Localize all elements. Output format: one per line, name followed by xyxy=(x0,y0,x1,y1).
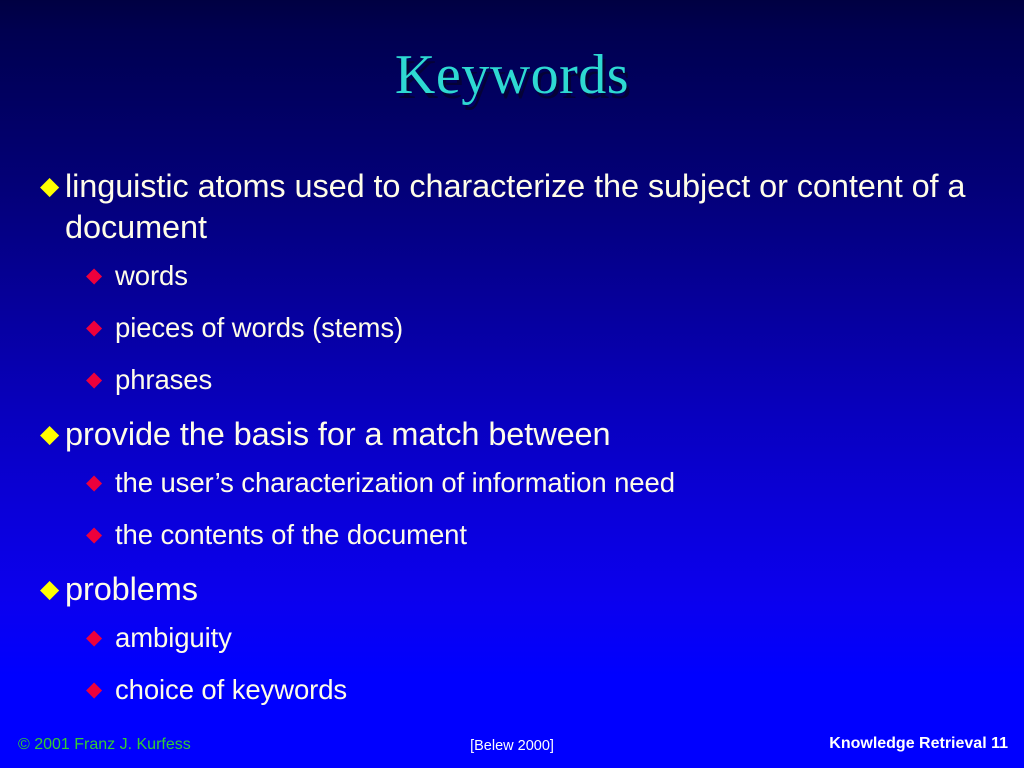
bullet-text: problems xyxy=(65,569,975,610)
bullet-item-level2: ◆ the user’s characterization of informa… xyxy=(0,457,1024,508)
red-diamond-bullet-icon: ◆ xyxy=(86,612,115,663)
page-title: Keywords xyxy=(395,44,629,106)
bullet-text: the contents of the document xyxy=(115,509,1024,560)
bullet-text: provide the basis for a match between xyxy=(65,414,975,455)
bullet-text: choice of keywords xyxy=(115,664,1024,715)
bullet-item-level1: ◆ provide the basis for a match between xyxy=(0,414,1024,455)
bullet-text: phrases xyxy=(115,354,1024,405)
bullet-text: the user’s characterization of informati… xyxy=(115,457,1024,508)
bullet-item-level2: ◆ phrases xyxy=(0,354,1024,405)
slide-footer: © 2001 Franz J. Kurfess [Belew 2000] Kno… xyxy=(0,732,1024,768)
red-diamond-bullet-icon: ◆ xyxy=(86,250,115,301)
bullet-item-level1: ◆ linguistic atoms used to characterize … xyxy=(0,166,1024,248)
bullet-text: words xyxy=(115,250,1024,301)
yellow-diamond-bullet-icon: ◆ xyxy=(40,414,65,455)
bullet-item-level1: ◆ problems xyxy=(0,569,1024,610)
slide-body-content: ◆ linguistic atoms used to characterize … xyxy=(0,166,1024,716)
bullet-text: linguistic atoms used to characterize th… xyxy=(65,166,975,248)
course-and-slide-number: Knowledge Retrieval 11 xyxy=(829,735,1008,753)
presentation-slide: Keywords ◆ linguistic atoms used to char… xyxy=(0,0,1024,768)
bullet-item-level2: ◆ the contents of the document xyxy=(0,509,1024,560)
red-diamond-bullet-icon: ◆ xyxy=(86,457,115,508)
red-diamond-bullet-icon: ◆ xyxy=(86,664,115,715)
yellow-diamond-bullet-icon: ◆ xyxy=(40,166,65,207)
bullet-text: ambiguity xyxy=(115,612,1024,663)
bullet-text: pieces of words (stems) xyxy=(115,302,1024,353)
bullet-item-level2: ◆ ambiguity xyxy=(0,612,1024,663)
red-diamond-bullet-icon: ◆ xyxy=(86,302,115,353)
bullet-group-spacer xyxy=(0,406,1024,414)
slide-title-area: Keywords xyxy=(0,44,1024,106)
bullet-group-spacer xyxy=(0,561,1024,569)
bullet-item-level2: ◆ pieces of words (stems) xyxy=(0,302,1024,353)
red-diamond-bullet-icon: ◆ xyxy=(86,509,115,560)
bullet-item-level2: ◆ words xyxy=(0,250,1024,301)
bullet-item-level2: ◆ choice of keywords xyxy=(0,664,1024,715)
red-diamond-bullet-icon: ◆ xyxy=(86,354,115,405)
yellow-diamond-bullet-icon: ◆ xyxy=(40,569,65,610)
